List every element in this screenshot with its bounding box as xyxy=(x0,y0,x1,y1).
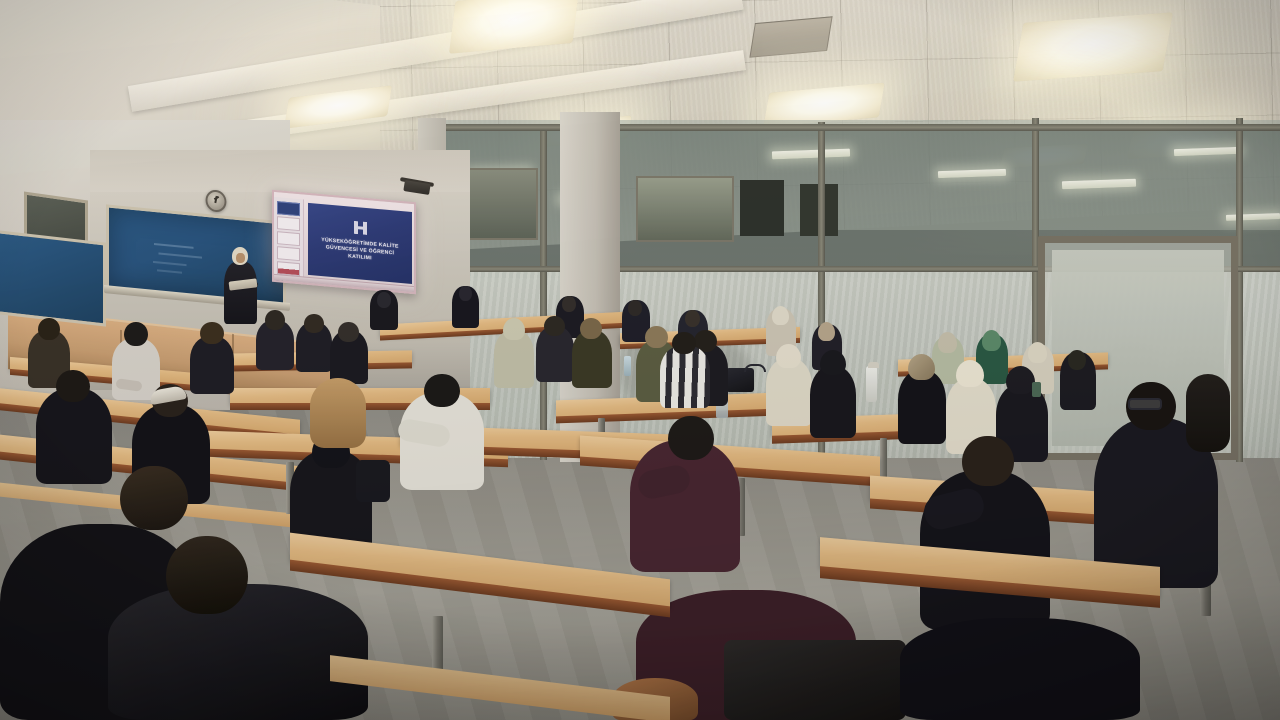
lecture-hall-photo: YÜKSEKÖĞRETİMDE KALİTE GÜVENCESİ VE ÖĞRE… xyxy=(0,0,1280,720)
slide-title-line-3: KATILIMI xyxy=(344,253,376,263)
student-mid-3-head xyxy=(200,322,224,344)
slide-4-thumbnail[interactable] xyxy=(277,246,300,261)
student-mid-9-head xyxy=(580,318,602,339)
student-mid-13-headscarf xyxy=(820,350,846,375)
student-long-hair xyxy=(310,378,366,448)
student-mid-12-headscarf xyxy=(776,344,801,368)
presenter-face xyxy=(236,253,245,263)
student-back-7-headscarf xyxy=(818,322,835,341)
chalkboard-writing xyxy=(150,240,220,281)
student-mid-7-headscarf xyxy=(503,318,525,340)
side-chalkboard xyxy=(0,229,106,326)
interior-window-2 xyxy=(636,176,734,242)
water-bottle-1 xyxy=(624,356,631,376)
student-striped-shirt-body xyxy=(660,346,710,408)
student-mid-13-body xyxy=(810,366,856,438)
student-back-4-head xyxy=(628,300,642,316)
water-bottle-2 xyxy=(866,366,877,402)
student-back-11-head xyxy=(1068,350,1086,370)
student-mid-14-headscarf xyxy=(908,354,935,380)
student-near-5-head xyxy=(668,416,714,460)
slide-3-thumbnail[interactable] xyxy=(277,231,300,246)
ceiling-air-vent xyxy=(749,16,832,57)
student-mid-16-headscarf xyxy=(1006,366,1035,394)
student-mid-5-head xyxy=(304,314,324,333)
student-back-10-headscarf xyxy=(1028,342,1047,363)
student-mid-3-body xyxy=(190,336,234,394)
student-back-2-head xyxy=(459,286,472,301)
student-foreground-2-body xyxy=(108,584,368,720)
presenter-body xyxy=(224,262,257,324)
water-bottle-2-cap xyxy=(868,362,879,368)
mobile-phone-1 xyxy=(1032,382,1041,397)
student-mid-10-head xyxy=(645,326,668,348)
student-back-1-head xyxy=(377,292,391,308)
university-emblem-icon xyxy=(354,220,367,234)
student-near-4-head xyxy=(424,374,460,407)
handbag-1-strap xyxy=(744,364,766,372)
student-back-9-headscarf xyxy=(982,330,1001,351)
current-slide: YÜKSEKÖĞRETİMDE KALİTE GÜVENCESİ VE ÖĞRE… xyxy=(308,203,412,284)
student-near-6-head xyxy=(962,436,1014,486)
student-back-6-headscarf xyxy=(772,306,789,325)
student-striped-shirt-head xyxy=(672,332,696,354)
student-back-3-head xyxy=(562,296,576,312)
student-foreground-2-head xyxy=(166,536,248,614)
ceiling-light-2 xyxy=(1013,12,1173,81)
backpack-foreground xyxy=(724,640,906,720)
student-mid-4-head xyxy=(265,310,285,330)
student-near-3-bag xyxy=(356,460,390,502)
student-mid-6-head xyxy=(338,322,359,342)
student-mid-15-headscarf xyxy=(956,360,984,387)
student-mid-1-head xyxy=(38,318,60,340)
student-mid-12-body xyxy=(766,358,812,426)
student-mid-8-head xyxy=(544,316,565,336)
projection-screen: YÜKSEKÖĞRETİMDE KALİTE GÜVENCESİ VE ÖĞRE… xyxy=(272,190,416,295)
student-near-1-head xyxy=(56,370,90,402)
slide-1-thumbnail[interactable] xyxy=(277,201,300,216)
student-mid-14-body xyxy=(898,370,946,444)
student-near-7-glasses xyxy=(1128,398,1162,410)
student-mid-2-head xyxy=(124,322,148,346)
student-foreground-1-head xyxy=(120,466,188,530)
student-near-8-hair xyxy=(1186,374,1230,452)
student-back-5-head xyxy=(685,310,700,327)
student-foreground-4-body xyxy=(900,618,1140,720)
glass-mullion-2 xyxy=(540,128,547,460)
student-back-8-headscarf xyxy=(938,332,957,353)
powerpoint-thumbnail-panel[interactable] xyxy=(274,197,304,282)
interior-window-3 xyxy=(740,180,784,236)
student-near-1-body xyxy=(36,388,112,484)
slide-2-thumbnail[interactable] xyxy=(277,216,300,231)
